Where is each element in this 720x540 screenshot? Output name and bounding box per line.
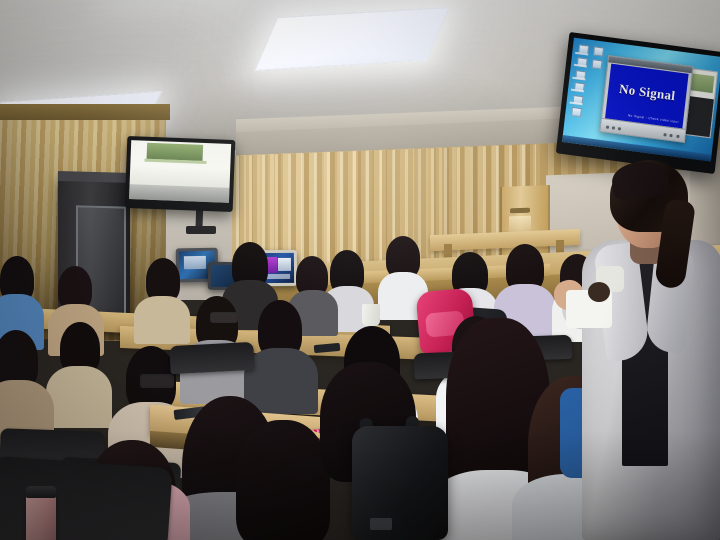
media-player-video-area: No Signal No Signal - Check video input [605, 64, 689, 128]
desktop-icon-1-label [575, 52, 588, 56]
stop-button-icon[interactable] [618, 127, 621, 130]
media-player-window[interactable]: No Signal No Signal - Check video input [599, 55, 693, 143]
curtain-rail [0, 104, 170, 120]
desktop-icon-7[interactable] [593, 47, 604, 57]
desktop-icon-6[interactable] [571, 107, 582, 117]
no-signal-message: No Signal [618, 81, 676, 104]
backpack-buckle [370, 518, 392, 530]
desktop-icon-5-label [569, 102, 582, 106]
tv-left-screen [129, 140, 231, 203]
glasses-icon-m5 [140, 374, 174, 388]
thermos-cap[interactable] [26, 486, 56, 498]
student-body-m1 [46, 366, 112, 428]
fullscreen-icon[interactable] [670, 134, 673, 137]
student-body-m3 [244, 348, 318, 414]
equipment-rack-top [58, 171, 132, 183]
chair-back-1 [169, 342, 254, 374]
paper-cup[interactable] [362, 304, 380, 326]
crt-left-window [184, 256, 207, 269]
student-body-b8 [134, 296, 190, 344]
tv-left-mount-plate [186, 226, 216, 234]
door-handle[interactable] [510, 208, 530, 214]
pink-thermos[interactable] [26, 492, 56, 540]
pause-button-icon[interactable] [612, 126, 615, 129]
desktop-icon-4-label [571, 89, 584, 93]
tv-right-screen: No Signal No Signal - Check video input [562, 38, 720, 162]
black-backpack[interactable] [352, 426, 448, 540]
play-button-icon[interactable] [606, 126, 609, 129]
wall-tv-left[interactable] [125, 136, 236, 212]
volume-icon[interactable] [663, 133, 666, 136]
student-head-f2 [236, 420, 330, 540]
glasses-icon-m2 [210, 312, 238, 323]
dark-item-on-ledge [588, 282, 610, 302]
wall-tv-right[interactable]: No Signal No Signal - Check video input [556, 32, 720, 174]
desktop-icon-2-label [574, 64, 587, 68]
settings-gear-icon[interactable] [676, 135, 679, 138]
presenter [566, 162, 720, 540]
lecture-hall-photo: No Signal No Signal - Check video input [0, 0, 720, 540]
tv-left-screen-shadow [129, 184, 230, 203]
desktop-icon-8[interactable] [592, 59, 603, 69]
crt-right-light-panel [278, 258, 291, 271]
desktop-icon-3-label [572, 77, 585, 81]
